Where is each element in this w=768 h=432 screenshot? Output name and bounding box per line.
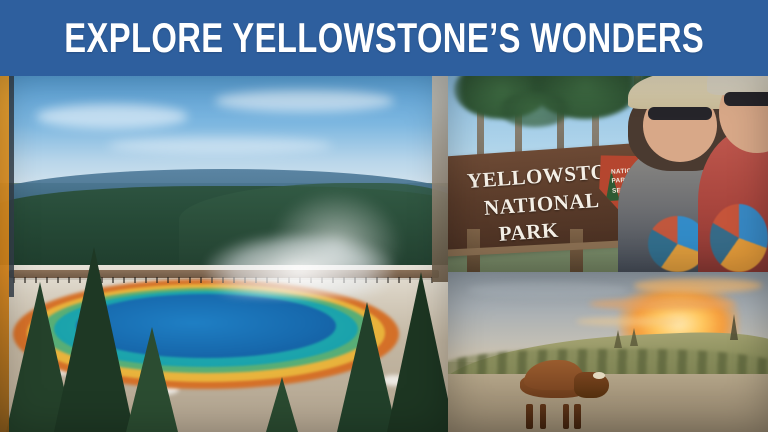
title-banner: EXPLORE YELLOWSTONE’S WONDERS	[0, 0, 768, 76]
photo-park-entrance-sign: YELLOWSTONE NATIONAL PARK NATIONAL PARK …	[448, 76, 768, 272]
bison	[518, 360, 614, 408]
sign-post	[570, 229, 583, 272]
bison-leg	[563, 404, 570, 429]
distant-tree	[730, 314, 738, 340]
photo-grand-prismatic-spring	[0, 76, 448, 432]
sky	[0, 76, 448, 183]
page-title: EXPLORE YELLOWSTONE’S WONDERS	[64, 17, 704, 59]
bison-leg	[540, 404, 547, 429]
cloud	[215, 90, 394, 111]
video-thumbnail: EXPLORE YELLOWSTONE’S WONDERS	[0, 0, 768, 432]
pole	[9, 76, 14, 297]
roadside-post	[432, 76, 448, 282]
cloud	[467, 282, 627, 298]
tree-canopy	[499, 92, 569, 127]
distant-tree	[630, 328, 638, 346]
cloud	[634, 278, 762, 292]
sunglasses	[648, 107, 712, 120]
sunglasses	[724, 92, 768, 106]
cloud	[108, 137, 332, 155]
distant-tree	[614, 330, 622, 348]
left-edge-marker	[0, 76, 9, 432]
photo-bison-sunset	[448, 272, 768, 432]
tshirt-graphic	[710, 204, 768, 272]
bison-leg	[526, 404, 533, 429]
bison-leg	[574, 404, 581, 429]
steam-plume	[206, 233, 394, 297]
